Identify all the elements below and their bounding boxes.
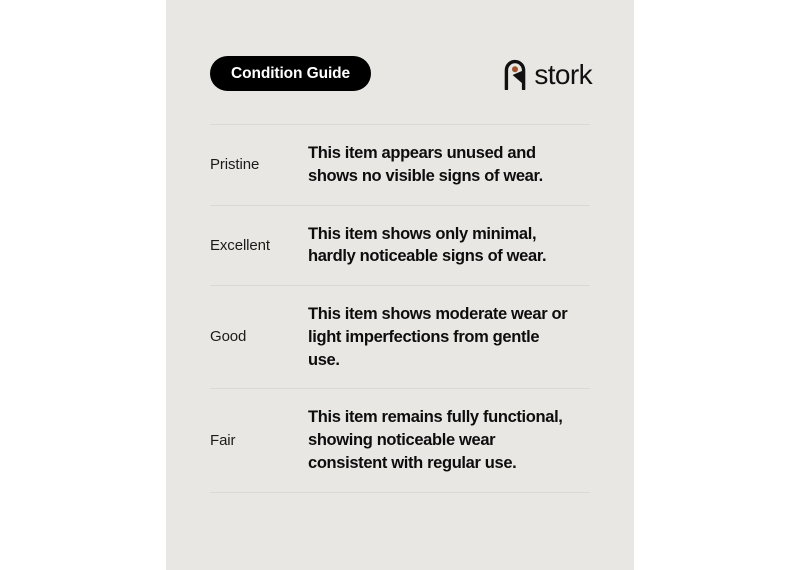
- brand-lockup: stork: [503, 54, 592, 94]
- brand-wordmark: stork: [534, 61, 592, 89]
- condition-table: Pristine This item appears unused and sh…: [210, 124, 590, 493]
- condition-description: This item remains fully functional, show…: [308, 406, 590, 474]
- condition-label: Good: [210, 327, 308, 347]
- condition-guide-pill[interactable]: Condition Guide: [210, 56, 371, 91]
- card-header: Condition Guide stork: [166, 50, 634, 100]
- condition-description: This item shows only minimal, hardly not…: [308, 223, 590, 269]
- row-divider-bottom: [210, 492, 590, 493]
- condition-label: Pristine: [210, 155, 308, 175]
- stork-logo-icon: [503, 58, 527, 90]
- table-row: Fair This item remains fully functional,…: [210, 389, 590, 491]
- table-row: Excellent This item shows only minimal, …: [210, 206, 590, 286]
- condition-label: Excellent: [210, 236, 308, 256]
- condition-description: This item appears unused and shows no vi…: [308, 142, 590, 188]
- page-root: Condition Guide stork Pristine This item…: [0, 0, 800, 570]
- table-row: Pristine This item appears unused and sh…: [210, 125, 590, 205]
- table-row: Good This item shows moderate wear or li…: [210, 286, 590, 388]
- condition-description: This item shows moderate wear or light i…: [308, 303, 590, 371]
- condition-guide-card: Condition Guide stork Pristine This item…: [166, 0, 634, 570]
- condition-label: Fair: [210, 431, 308, 451]
